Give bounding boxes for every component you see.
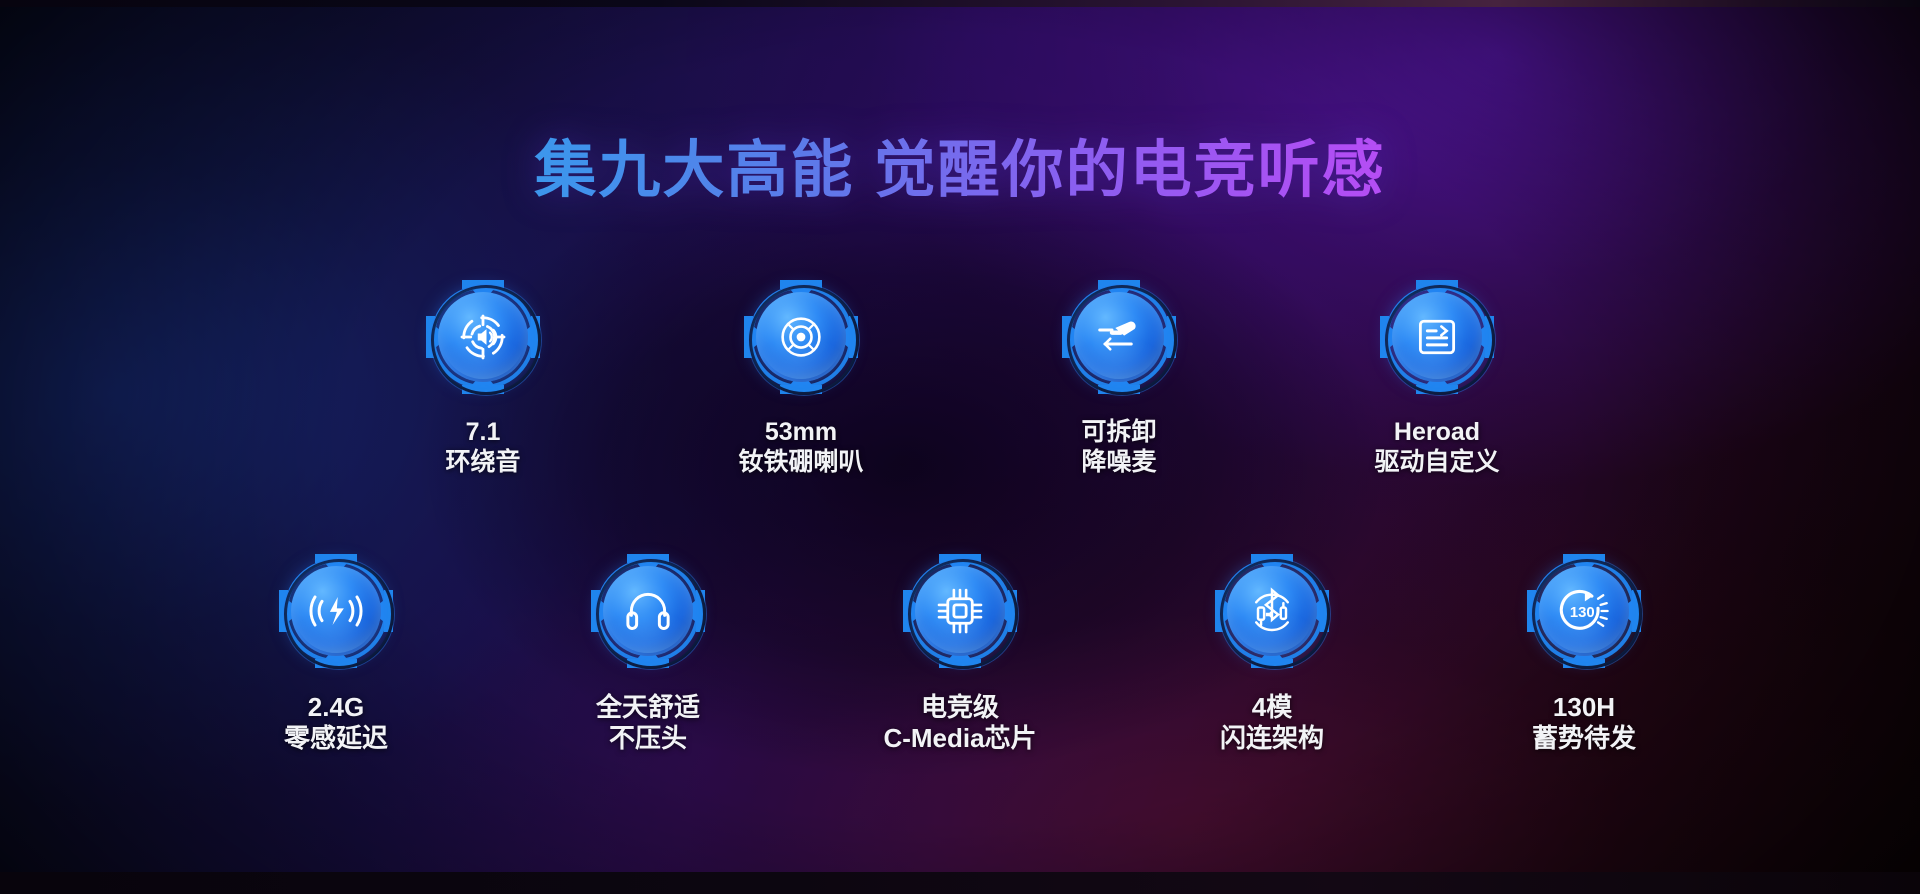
feature-line-1: 53mm [738,418,863,448]
feature-caption: 可拆卸 降噪麦 [1081,418,1156,477]
feature-badge: 130 [1525,552,1643,670]
feature-caption: 7.1 环绕音 [445,418,520,477]
feature-line-2: C-Media芯片 [883,723,1036,754]
feature-item[interactable]: 53mm 钕铁硼喇叭 [706,278,896,477]
top-edge-strip [0,0,1920,7]
driver-software-icon [1409,309,1465,365]
feature-line-2: 零感延迟 [284,723,388,754]
promo-slide: 集九大高能 觉醒你的电竞听感 [0,0,1920,894]
feature-item[interactable]: 4模 闪连架构 [1177,552,1367,753]
feature-item[interactable]: 2.4G 零感延迟 [241,552,431,753]
feature-line-1: 130H [1532,692,1636,723]
feature-line-2: 环绕音 [445,448,520,478]
feature-badge [742,278,860,396]
feature-badge [1213,552,1331,670]
feature-badge [277,552,395,670]
feature-line-1: 4模 [1220,692,1324,723]
chip-icon [932,583,988,639]
battery-130-hours-icon: 130 [1556,583,1612,639]
feature-item[interactable]: 可拆卸 降噪麦 [1024,278,1214,477]
battery-hours-text: 130 [1570,605,1595,621]
feature-line-1: 可拆卸 [1081,418,1156,448]
feature-caption: 2.4G 零感延迟 [284,692,388,753]
feature-caption: 全天舒适 不压头 [596,692,700,753]
multi-mode-connect-icon [1244,583,1300,639]
feature-caption: 4模 闪连架构 [1220,692,1324,753]
surround-sound-target-icon [455,309,511,365]
feature-row-2: 2.4G 零感延迟 [0,552,1920,753]
feature-caption: 130H 蓄势待发 [1532,692,1636,753]
feature-line-1: 电竞级 [883,692,1036,723]
feature-caption: 53mm 钕铁硼喇叭 [738,418,863,477]
feature-line-2: 驱动自定义 [1374,448,1499,478]
feature-line-2: 不压头 [596,723,700,754]
feature-line-2: 闪连架构 [1220,723,1324,754]
feature-line-1: Heroad [1374,418,1499,448]
feature-item[interactable]: 全天舒适 不压头 [553,552,743,753]
feature-row-1: 7.1 环绕音 [0,278,1920,477]
feature-item[interactable]: 电竞级 C-Media芯片 [865,552,1055,753]
speaker-driver-icon [773,309,829,365]
feature-badge [901,552,1019,670]
bottom-edge-strip [0,872,1920,894]
feature-badge [589,552,707,670]
feature-line-2: 钕铁硼喇叭 [738,448,863,478]
feature-line-1: 全天舒适 [596,692,700,723]
feature-line-2: 降噪麦 [1081,448,1156,478]
feature-badge [1060,278,1178,396]
feature-item[interactable]: Heroad 驱动自定义 [1342,278,1532,477]
feature-line-1: 2.4G [284,692,388,723]
page-title: 集九大高能 觉醒你的电竞听感 [0,137,1920,205]
feature-line-1: 7.1 [445,418,520,448]
wireless-latency-icon [308,583,364,639]
feature-badge [1378,278,1496,396]
detachable-microphone-icon [1091,309,1147,365]
feature-badge [424,278,542,396]
feature-caption: Heroad 驱动自定义 [1374,418,1499,477]
feature-caption: 电竞级 C-Media芯片 [883,692,1036,753]
feature-item[interactable]: 130 130H 蓄势待发 [1489,552,1679,753]
feature-item[interactable]: 7.1 环绕音 [388,278,578,477]
headset-comfort-icon [620,583,676,639]
feature-line-2: 蓄势待发 [1532,723,1636,754]
